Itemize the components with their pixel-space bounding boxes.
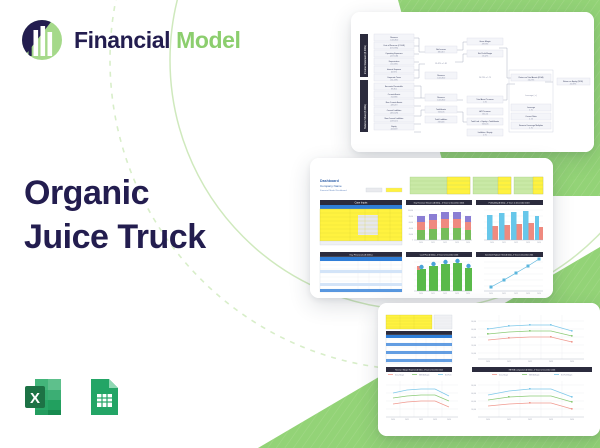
svg-text:2020: 2020 [489,293,493,295]
dupont-flowchart-card[interactable]: Income Statement ($ 000s) Balance Sheet … [351,12,594,152]
svg-text:2023: 2023 [549,419,553,421]
svg-text:24.23%: 24.23% [528,79,535,81]
svg-text:743,105: 743,105 [482,123,489,125]
svg-text:(52,239): (52,239) [390,80,397,82]
dupont-flowchart-image: Income Statement ($ 000s) Balance Sheet … [351,12,594,152]
svg-text:2024: 2024 [537,242,541,244]
svg-text:2023: 2023 [526,293,530,295]
google-sheets-icon[interactable] [82,376,124,418]
svg-text:Interest Expense: Interest Expense [387,68,401,71]
svg-text:Investment Payback / Rent ($ 0: Investment Payback / Rent ($ 000s) - 5 Y… [485,254,533,257]
svg-text:80,000: 80,000 [471,321,476,323]
svg-text:42.39%: 42.39% [570,83,577,85]
svg-text:(417,548): (417,548) [390,56,398,58]
pie-bar-chart-logo-icon [20,18,64,62]
page-title-line1: Organic [24,174,149,212]
svg-text:20,000: 20,000 [471,345,476,347]
svg-text:Profitability ($ 000s) - 5 Yea: Profitability ($ 000s) - 5 Years to Dece… [489,202,530,205]
svg-text:Corporate Taxes: Corporate Taxes [387,76,401,79]
svg-text:314,886: 314,886 [391,96,398,98]
trend-report-image: 20202021202220232024 80,00060,000 40,000… [378,303,600,436]
brand-name-part2: Model [176,27,240,53]
brand-logo[interactable]: Financial Model [20,18,241,62]
svg-text:1.81: 1.81 [483,101,487,103]
svg-text:40,000: 40,000 [471,337,476,339]
svg-text:80,000: 80,000 [409,216,413,218]
svg-text:2021: 2021 [507,361,511,363]
brand-wordmark: Financial Model [74,27,241,54]
excel-icon-letter: X [30,390,40,407]
svg-text:2024: 2024 [537,293,541,295]
svg-text:10,000: 10,000 [471,353,476,355]
svg-text:20,000: 20,000 [409,234,413,236]
file-format-icons: X [22,376,124,418]
svg-text:89,801: 89,801 [391,88,397,90]
svg-text:2021: 2021 [502,242,506,244]
dashboard-image: Dashboard Company Name Financial Model D… [310,158,553,298]
svg-text:13.42% x 1.81: 13.42% x 1.81 [435,63,447,65]
svg-text:2022: 2022 [514,293,518,295]
svg-text:13.42%: 13.42% [482,55,489,57]
svg-text:Case Inputs: Case Inputs [355,202,369,205]
svg-text:2023: 2023 [549,361,553,363]
svg-text:2021: 2021 [502,293,506,295]
svg-text:60,000: 60,000 [471,329,476,331]
svg-text:2022: 2022 [514,242,518,244]
svg-text:2022: 2022 [528,361,532,363]
svg-text:2022: 2022 [528,419,532,421]
svg-text:100,000: 100,000 [408,210,413,212]
svg-text:2020: 2020 [486,361,490,363]
svg-text:2024: 2024 [466,293,470,295]
svg-text:1.75: 1.75 [529,109,533,111]
svg-text:318,446: 318,446 [438,121,445,123]
svg-text:2021: 2021 [507,419,511,421]
svg-text:2021: 2021 [431,242,435,244]
svg-text:428,219: 428,219 [391,104,398,106]
svg-text:2020: 2020 [419,293,423,295]
promo-banner: Financial Model Organic Juice Truck X [0,0,600,448]
svg-text:2020: 2020 [490,242,494,244]
svg-text:164.24: 164.24 [482,113,488,115]
svg-text:Operating Expenses: Operating Expenses [385,52,402,55]
svg-text:24.23% x 1.75: 24.23% x 1.75 [479,77,491,79]
svg-text:0.75: 0.75 [483,134,487,136]
dashboard-card[interactable]: Dashboard Company Name Financial Model D… [310,158,553,298]
svg-text:Dashboard: Dashboard [320,179,339,183]
page-title: Organic Juice Truck [24,172,294,259]
svg-text:2023: 2023 [455,242,459,244]
svg-text:1,341,820: 1,341,820 [437,77,445,79]
svg-text:80,000: 80,000 [471,385,476,387]
svg-text:2023: 2023 [526,242,530,244]
svg-text:(8,377): (8,377) [391,72,397,74]
svg-text:20,000: 20,000 [471,409,476,411]
svg-text:60,000: 60,000 [471,393,476,395]
svg-text:EBITDA Comparison ($ 000s) - 5: EBITDA Comparison ($ 000s) - 5 Years to … [509,369,556,372]
svg-text:2021: 2021 [431,293,435,295]
svg-text:2021: 2021 [405,419,409,421]
page-title-line2: Juice Truck [24,216,294,260]
svg-text:2022: 2022 [443,293,447,295]
svg-text:1,341,820: 1,341,820 [390,40,398,42]
svg-text:2020: 2020 [391,419,395,421]
trend-report-card[interactable]: 20202021202220232024 80,00060,000 40,000… [378,303,600,436]
svg-text:2023: 2023 [455,293,459,295]
svg-text:2024: 2024 [570,419,574,421]
svg-text:2020: 2020 [419,242,423,244]
svg-text:Company Name: Company Name [320,184,342,188]
svg-text:60,000: 60,000 [409,222,413,224]
svg-text:Depreciation: Depreciation [389,60,400,63]
svg-text:49.93%: 49.93% [482,43,489,45]
svg-text:180,013: 180,013 [438,51,445,53]
svg-text:2024: 2024 [570,361,574,363]
svg-text:Key Revenue Streams ($ 000s) -: Key Revenue Streams ($ 000s) - 5 Years t… [414,202,464,205]
svg-text:424,659: 424,659 [391,128,398,130]
svg-text:743,105: 743,105 [438,111,445,113]
svg-text:40,000: 40,000 [409,228,413,230]
svg-text:2020: 2020 [486,419,490,421]
svg-text:40,000: 40,000 [471,401,476,403]
svg-text:2024: 2024 [466,242,470,244]
svg-text:Cost of Revenue (COGS): Cost of Revenue (COGS) [383,44,405,47]
svg-text:Key Financials ($ 000s): Key Financials ($ 000s) [350,255,373,257]
svg-text:1,341,820: 1,341,820 [437,99,445,101]
svg-text:2024: 2024 [447,419,451,421]
svg-text:(11,683): (11,683) [391,64,398,66]
svg-text:Leverage ( x ): Leverage ( x ) [525,94,537,97]
svg-text:Financial Model Dashboard: Financial Model Dashboard [320,189,347,192]
svg-text:2022: 2022 [419,419,423,421]
svg-text:2022: 2022 [443,242,447,244]
svg-text:1.75: 1.75 [529,127,533,129]
svg-text:1.74: 1.74 [529,118,533,120]
svg-text:2023: 2023 [433,419,437,421]
excel-icon[interactable]: X [22,376,64,418]
svg-text:(671,985): (671,985) [390,48,398,50]
svg-text:(181,329): (181,329) [390,112,398,114]
brand-name-part1: Financial [74,27,170,53]
svg-text:(137,117): (137,117) [390,120,398,122]
svg-text:Balance Sheet ($ 000s): Balance Sheet ($ 000s) [364,104,367,129]
svg-text:Cash Flow ($ 000s) - 5 Years t: Cash Flow ($ 000s) - 5 Years to December… [420,254,458,257]
svg-text:Income Statement ($ 000s): Income Statement ($ 000s) [364,45,367,74]
